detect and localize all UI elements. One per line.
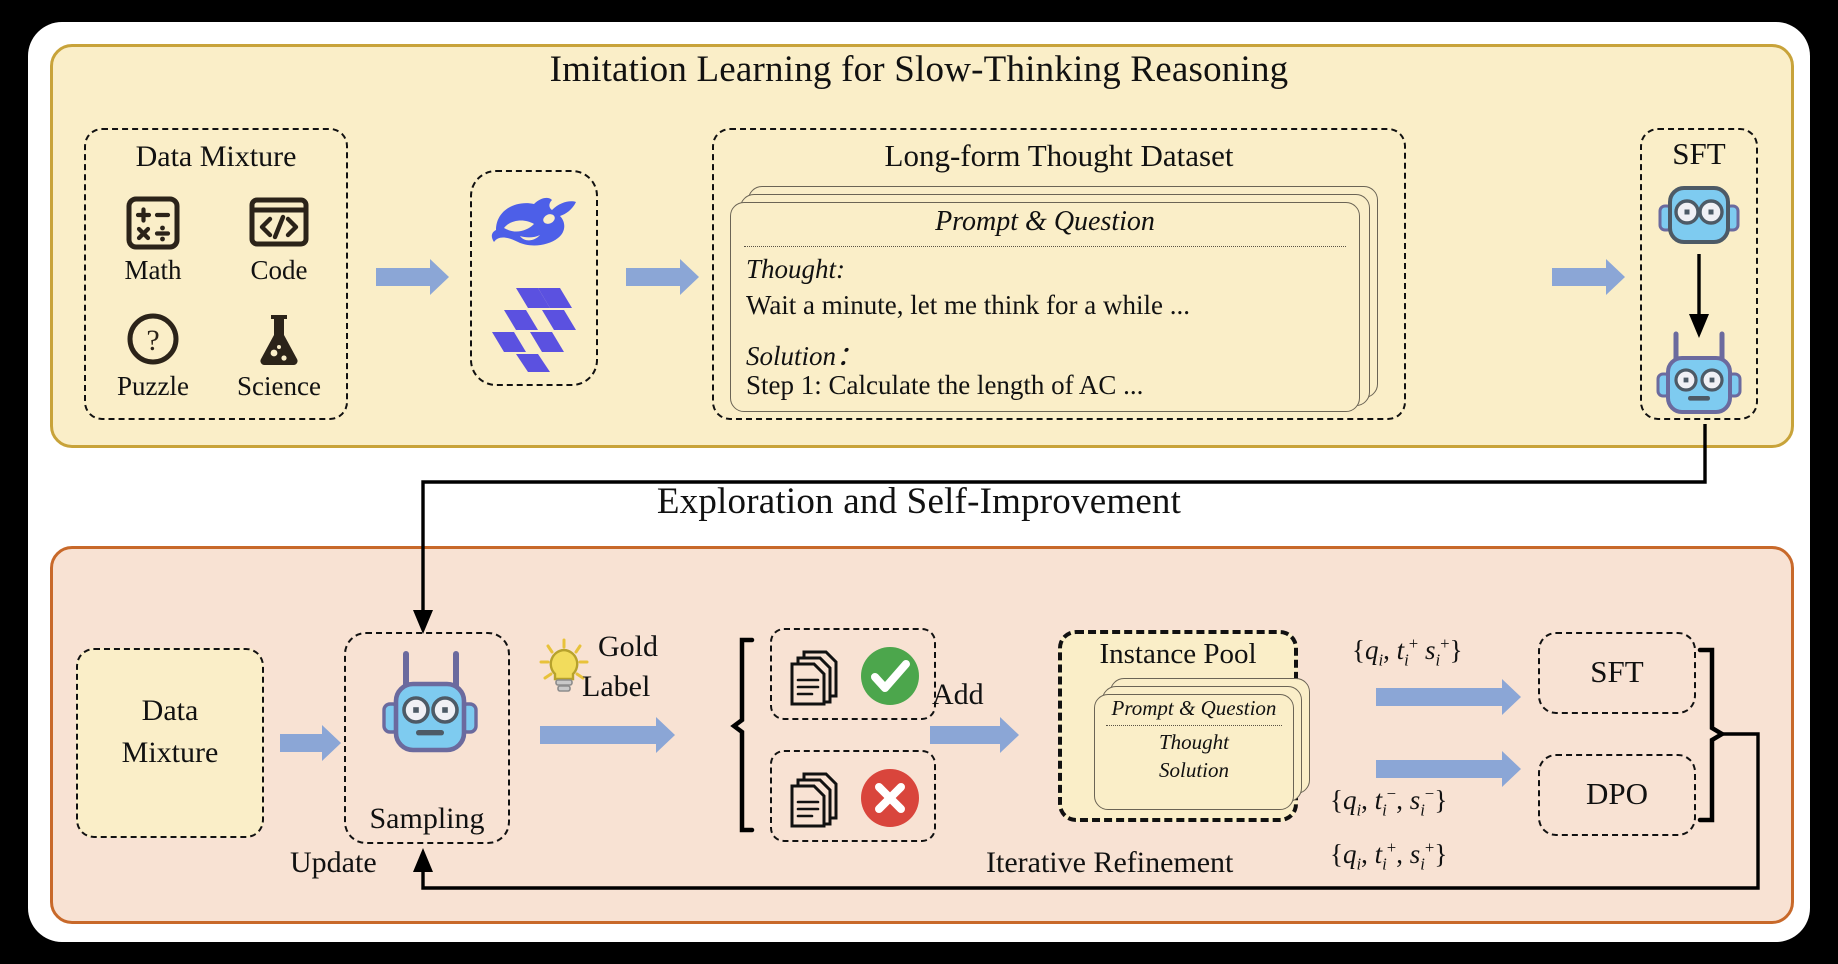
dpo-box: DPO [1538, 754, 1696, 836]
data-mixture-item-science: Science [220, 308, 338, 402]
tuple-sft-label: {qi, ti+ si+} [1352, 634, 1463, 670]
instance-card-content: Prompt & Question Thought Solution [1094, 694, 1294, 810]
dpo-label: DPO [1540, 776, 1694, 812]
dataset-divider [744, 246, 1346, 247]
data-mixture-item-code: Code [220, 192, 338, 286]
data-mixture-item-puzzle: ? Puzzle [94, 308, 212, 402]
data-mixture-box: Data Mixture Math [84, 128, 348, 420]
qwen-logo [486, 282, 582, 379]
bottom-panel-title: Exploration and Self-Improvement [0, 480, 1838, 523]
code-brackets-icon [220, 192, 338, 254]
svg-text:?: ? [146, 324, 159, 357]
sft-label-top: SFT [1642, 136, 1756, 172]
arrow-datamix-to-models [376, 268, 432, 286]
tuple-positive-label: {qi, ti+, si+} [1330, 838, 1447, 874]
dataset-thought-label: Thought: [746, 254, 845, 285]
update-label: Update [290, 846, 377, 880]
deepseek-whale-logo [486, 188, 582, 269]
instance-prompt-question: Prompt & Question [1094, 696, 1294, 721]
instance-pool-title: Instance Pool [1062, 638, 1294, 671]
dataset-card-content: Prompt & Question Thought: Wait a minute… [730, 202, 1360, 412]
sampling-label: Sampling [346, 802, 508, 836]
instance-thought: Thought [1094, 730, 1294, 755]
positive-samples-box [770, 628, 936, 720]
base-models-box [470, 170, 598, 386]
add-label: Add [932, 678, 984, 712]
data-mixture-label-code: Code [220, 255, 338, 286]
gold-label-line2: Label [582, 670, 650, 704]
sft-label-bottom: SFT [1540, 654, 1694, 690]
arrow-datamix-to-sampling [280, 734, 324, 752]
instance-solution: Solution [1094, 758, 1294, 783]
documents-icon-positive [782, 642, 854, 717]
data-mixture-label-math: Math [94, 255, 212, 286]
data-mixture-item-math: Math [94, 192, 212, 286]
dataset-solution-text: Step 1: Calculate the length of AC ... [746, 370, 1143, 401]
arrow-dataset-to-sft [1552, 268, 1608, 286]
arrow-pool-to-sft [1376, 688, 1504, 706]
dataset-title: Long-form Thought Dataset [714, 138, 1404, 174]
dataset-solution-label: Solution： [746, 334, 863, 373]
arrow-add-to-pool [930, 726, 1002, 744]
data-mixture-title: Data Mixture [86, 140, 346, 174]
sft-box-bottom: SFT [1538, 632, 1696, 714]
dataset-prompt-question: Prompt & Question [730, 206, 1360, 238]
sampling-box: Sampling [344, 632, 510, 844]
data-mixture-box-bottom: Data Mixture [76, 648, 264, 838]
x-circle-icon [858, 766, 922, 835]
negative-samples-box [770, 750, 936, 842]
robot-icon-sampling [376, 648, 484, 777]
documents-icon-negative [782, 764, 854, 839]
robot-icon-base [1650, 176, 1748, 257]
data-mixture-label-science: Science [220, 371, 338, 402]
calculator-icon [94, 192, 212, 254]
top-panel-title: Imitation Learning for Slow-Thinking Rea… [0, 48, 1838, 91]
arrow-pool-to-dpo [1376, 760, 1504, 778]
data-mixture-label-line2: Mixture [78, 736, 262, 770]
robot-icon-tuned [1650, 330, 1748, 427]
iterative-refinement-label: Iterative Refinement [986, 846, 1233, 880]
data-mixture-label-line1: Data [78, 694, 262, 728]
data-mixture-label-puzzle: Puzzle [94, 371, 212, 402]
instance-divider [1106, 725, 1282, 726]
arrow-models-to-dataset [626, 268, 682, 286]
flask-icon [220, 308, 338, 370]
tuple-negative-label: {qi, ti−, si−} [1330, 784, 1447, 820]
check-circle-icon [858, 644, 922, 713]
figure-root: Imitation Learning for Slow-Thinking Rea… [0, 0, 1838, 964]
dataset-thought-text: Wait a minute, let me think for a while … [746, 290, 1190, 321]
gold-label-line1: Gold [598, 630, 658, 664]
question-circle-icon: ? [94, 308, 212, 370]
arrow-sampling-to-outcomes [540, 726, 658, 744]
